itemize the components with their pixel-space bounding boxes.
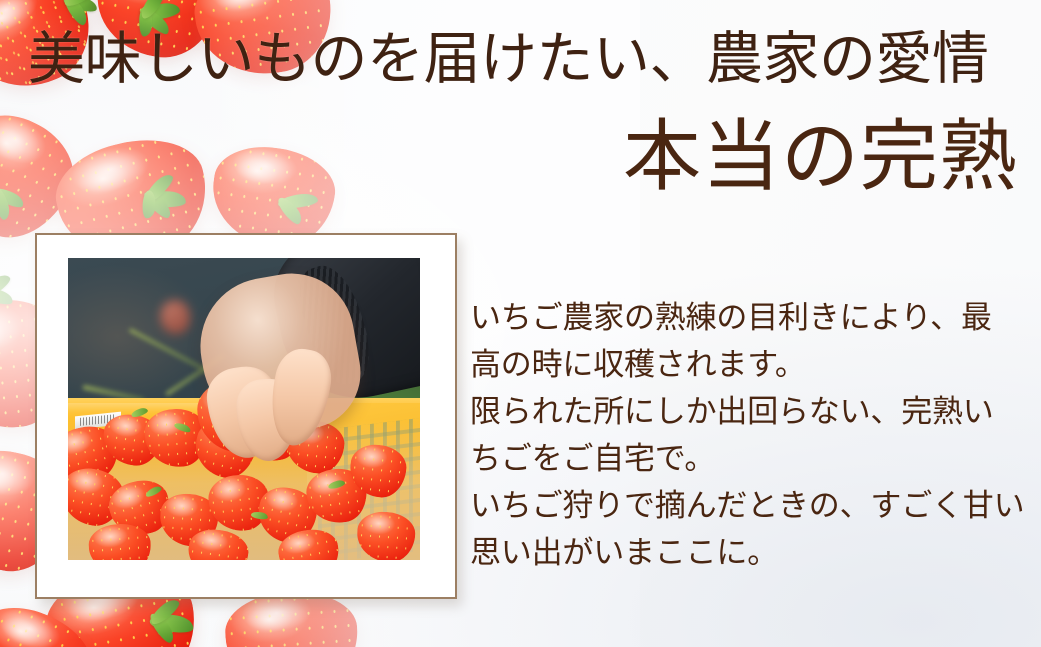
photo-strawberry xyxy=(347,442,408,500)
body-line: いちご狩りで摘んだときの、すごく甘い xyxy=(470,483,1030,530)
headline-primary: 美味しいものを届けたい、農家の愛情 xyxy=(28,29,1018,90)
headline-secondary: 本当の完熟 xyxy=(0,118,1018,196)
photo-blurred-berry xyxy=(160,300,190,334)
body-line: 限られた所にしか出回らない、完熟い xyxy=(470,389,1030,436)
promo-banner: 美味しいものを届けたい、農家の愛情 本当の完熟 いちご農家の熟練の目利きにより、… xyxy=(0,0,1041,647)
harvest-photo xyxy=(68,258,420,560)
body-line: いちご農家の熟練の目利きにより、最 xyxy=(470,295,1030,342)
body-line: 思い出がいまここに。 xyxy=(470,530,1030,577)
photo-strawberry xyxy=(87,522,152,560)
body-copy: いちご農家の熟練の目利きにより、最 高の時に収穫されます。 限られた所にしか出回… xyxy=(470,295,1030,577)
body-line: ちごをご自宅で。 xyxy=(470,436,1030,483)
photo-frame xyxy=(35,233,457,599)
body-line: 高の時に収穫されます。 xyxy=(470,342,1030,389)
photo-strawberry xyxy=(355,510,416,560)
